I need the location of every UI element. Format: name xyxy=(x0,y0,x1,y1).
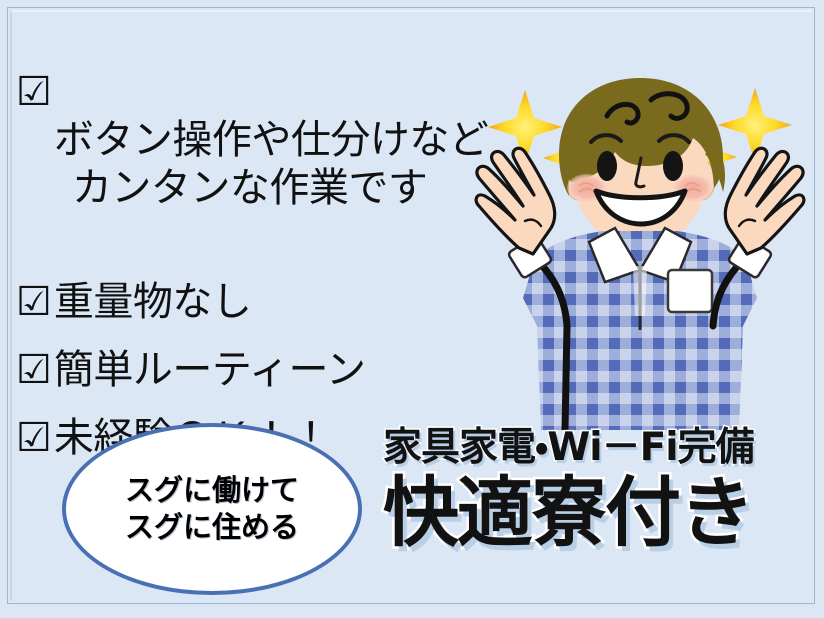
hand-right xyxy=(725,148,804,254)
checklist-item-2-line1: 簡単ルーティーン xyxy=(54,346,366,394)
headline-subtitle: 家具家電・Wi－Fi完備 xyxy=(383,428,813,469)
checked-box-icon: ☑ xyxy=(16,346,52,394)
checked-box-icon: ☑ xyxy=(16,68,52,116)
headline-block: 家具家電・Wi－Fi完備 快適寮付き xyxy=(383,428,813,553)
feature-checklist: ☑ ボタン操作や仕分けなど カンタンな作業です ☑ 重量物なし ☑ 簡単ルーティ… xyxy=(16,68,536,472)
oval-badge: スグに働けて スグに住める xyxy=(62,423,362,595)
checked-box-icon: ☑ xyxy=(16,278,52,326)
eye-left xyxy=(597,151,617,181)
checklist-item-0-text: ボタン操作や仕分けなど カンタンな作業です xyxy=(54,68,489,260)
checklist-item-0-line1: ボタン操作や仕分けなど xyxy=(54,117,489,163)
checklist-item-1: ☑ 重量物なし xyxy=(16,278,536,326)
eye-right xyxy=(663,151,683,181)
oval-badge-line1: スグに働けて xyxy=(125,472,299,509)
checklist-item-2: ☑ 簡単ルーティーン xyxy=(16,346,536,394)
checklist-item-0-line2: カンタンな作業です xyxy=(54,164,489,212)
job-ad-poster: ☑ ボタン操作や仕分けなど カンタンな作業です ☑ 重量物なし ☑ 簡単ルーティ… xyxy=(0,0,824,618)
checklist-item-1-line1: 重量物なし xyxy=(54,278,252,326)
headline-main: 快適寮付き xyxy=(383,473,813,554)
oval-badge-line2: スグに住める xyxy=(125,509,299,546)
checklist-item-0: ☑ ボタン操作や仕分けなど カンタンな作業です xyxy=(16,68,536,260)
shirt-pocket xyxy=(668,270,712,312)
checked-box-icon: ☑ xyxy=(16,414,52,462)
